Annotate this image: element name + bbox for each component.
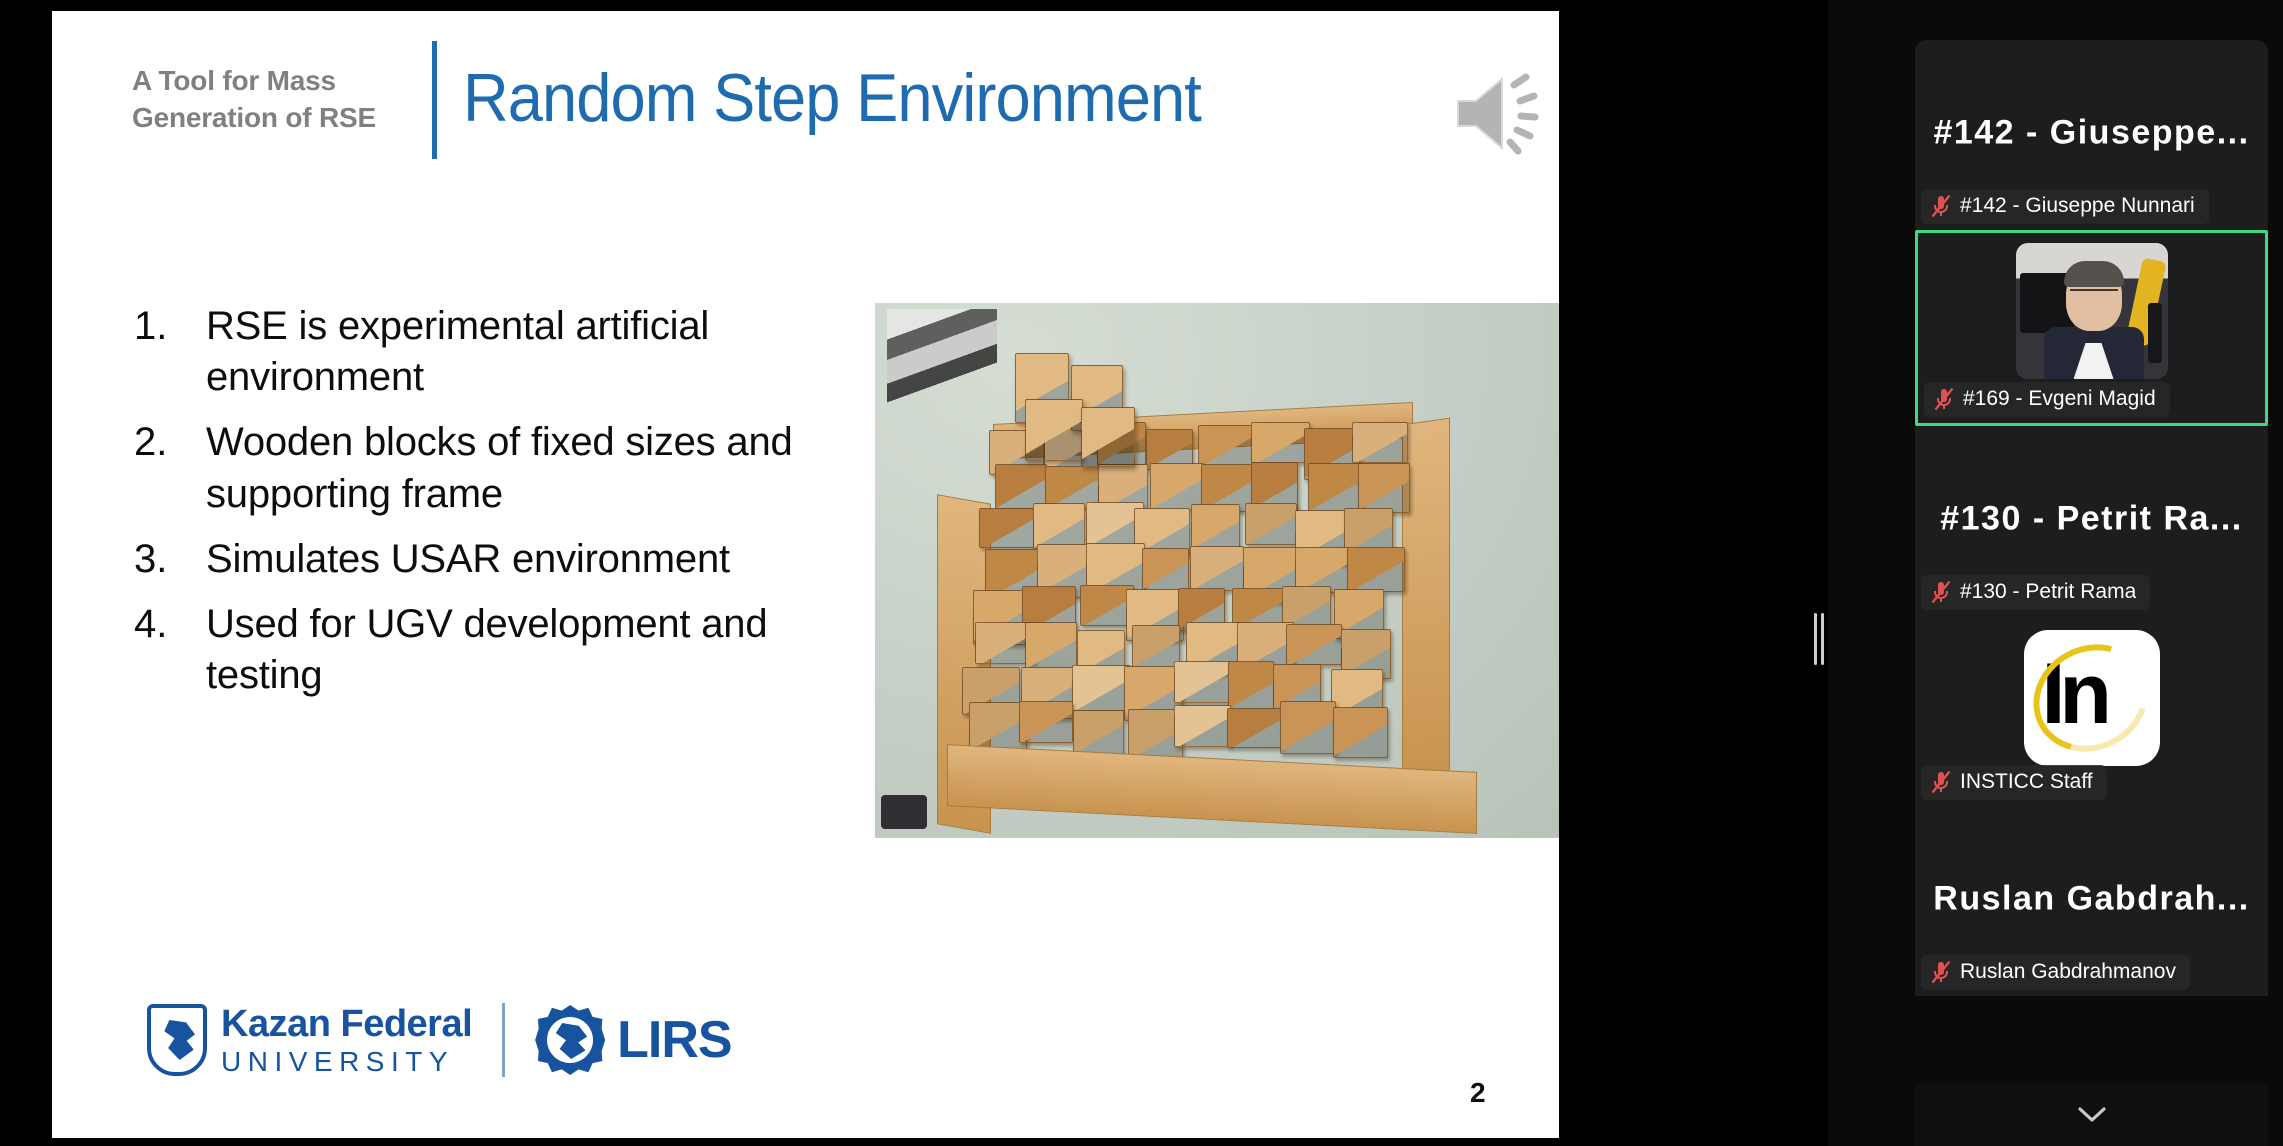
wooden-block [1286, 624, 1342, 665]
slide-title: Random Step Environment [463, 59, 1201, 137]
scroll-down-button[interactable] [1915, 1084, 2268, 1146]
footer-logos: Kazan Federal UNIVERSITY LIRS [147, 1003, 732, 1077]
logo-divider [502, 1003, 505, 1077]
list-item-number: 3. [124, 534, 206, 585]
participant-name-chip: #142 - Giuseppe Nunnari [1921, 189, 2209, 224]
list-item-text: RSE is experimental artificial environme… [206, 301, 824, 403]
wooden-block [1132, 625, 1180, 668]
wooden-block [979, 508, 1034, 548]
list-item-number: 1. [124, 301, 206, 352]
slide-header: A Tool for Mass Generation of RSE Random… [52, 11, 1559, 189]
wooden-block [1081, 407, 1135, 467]
list-item: 3. Simulates USAR environment [124, 534, 824, 585]
mic-off-icon [1934, 387, 1954, 411]
wooden-block [1073, 710, 1123, 755]
slide-kicker: A Tool for Mass Generation of RSE [132, 63, 422, 137]
mic-off-icon [1931, 960, 1951, 984]
wooden-block [1025, 399, 1083, 461]
participant-tile[interactable]: In INSTICC Staff [1915, 616, 2268, 806]
participant-video [2016, 243, 2168, 379]
wooden-block [1280, 701, 1336, 754]
wooden-block [1245, 503, 1297, 545]
zoom-meeting-window: A Tool for Mass Generation of RSE Random… [0, 0, 2283, 1146]
participant-tile[interactable]: #130 - Petrit Ra... #130 - Petrit Rama [1915, 426, 2268, 616]
wooden-block [1150, 463, 1204, 509]
header-divider [432, 41, 437, 159]
list-item: 1. RSE is experimental artificial enviro… [124, 301, 824, 403]
list-item-text: Simulates USAR environment [206, 534, 730, 585]
speaker-sound-icon[interactable] [1450, 71, 1555, 156]
wooden-block [1358, 463, 1410, 513]
wooden-block [1227, 708, 1282, 748]
participant-display-name-large: #130 - Petrit Ra... [1915, 500, 2268, 539]
list-item: 2. Wooden blocks of fixed sizes and supp… [124, 417, 824, 519]
participant-name-label: INSTICC Staff [1960, 770, 2093, 794]
list-item: 4. Used for UGV development and testing [124, 599, 824, 701]
participant-name-chip: #169 - Evgeni Magid [1924, 382, 2170, 417]
slide-page-number: 2 [1470, 1077, 1486, 1109]
mic-off-icon [1931, 194, 1951, 218]
participant-tile[interactable]: #142 - Giuseppe... #142 - Giuseppe Nunna… [1915, 40, 2268, 230]
list-item-text: Wooden blocks of fixed sizes and support… [206, 417, 824, 519]
wooden-block [995, 464, 1046, 509]
wooden-block [1191, 504, 1240, 551]
wooden-block [1352, 422, 1408, 463]
wooden-block [1333, 707, 1388, 758]
wooden-block [1251, 422, 1309, 463]
participant-name-label: #169 - Evgeni Magid [1963, 387, 2156, 411]
mic-off-icon [1931, 580, 1951, 604]
wooden-block [1072, 665, 1130, 710]
participant-tile[interactable]: #169 - Evgeni Magid [1915, 230, 2268, 426]
lirs-bird-icon [555, 1023, 587, 1059]
wooden-block [1019, 701, 1072, 743]
wooden-block [1033, 503, 1085, 549]
participant-display-name-large: #142 - Giuseppe... [1915, 114, 2268, 153]
handle-bar [1814, 613, 1817, 665]
wooden-block [1228, 661, 1274, 715]
participant-name-label: #130 - Petrit Rama [1960, 580, 2136, 604]
slide-bullet-list: 1. RSE is experimental artificial enviro… [124, 301, 824, 715]
wooden-block [1308, 463, 1362, 513]
participant-display-name-large: Ruslan Gabdrah... [1915, 880, 2268, 919]
wooden-block [1347, 547, 1405, 593]
wooden-block [1190, 546, 1244, 591]
wooden-block [1174, 705, 1230, 746]
mic-off-icon [1931, 770, 1951, 794]
rse-photo [875, 303, 1559, 838]
participant-name-label: #142 - Giuseppe Nunnari [1960, 194, 2195, 218]
participant-avatar: In [2024, 630, 2160, 766]
participant-tile[interactable]: Ruslan Gabdrah... Ruslan Gabdrahmanov [1915, 806, 2268, 996]
wooden-block [969, 702, 1026, 751]
list-item-number: 2. [124, 417, 206, 468]
participant-filmstrip-panel: #142 - Giuseppe... #142 - Giuseppe Nunna… [1828, 0, 2283, 1146]
presentation-slide: A Tool for Mass Generation of RSE Random… [52, 11, 1559, 1138]
wooden-block [1025, 622, 1077, 673]
participant-name-chip: #130 - Petrit Rama [1921, 575, 2150, 610]
wooden-block [1174, 661, 1230, 702]
kfu-wordmark: Kazan Federal UNIVERSITY [221, 1005, 472, 1076]
handle-bar [1821, 613, 1824, 665]
kfu-line-1: Kazan Federal [221, 1005, 472, 1043]
participant-name-label: Ruslan Gabdrahmanov [1960, 960, 2176, 984]
lirs-gear-icon [535, 1005, 605, 1075]
list-item-number: 4. [124, 599, 206, 650]
kazan-federal-university-crest-icon [147, 1004, 207, 1076]
screen-share-stage: A Tool for Mass Generation of RSE Random… [0, 0, 1820, 1146]
participant-name-chip: INSTICC Staff [1921, 765, 2107, 800]
list-item-text: Used for UGV development and testing [206, 599, 824, 701]
chevron-down-icon [2077, 1106, 2107, 1124]
panel-resize-handle[interactable] [1810, 612, 1828, 666]
wooden-block [1142, 548, 1189, 590]
photo-caster [881, 795, 927, 829]
wooden-block [1198, 425, 1254, 466]
participant-name-chip: Ruslan Gabdrahmanov [1921, 955, 2190, 990]
participant-tiles: #142 - Giuseppe... #142 - Giuseppe Nunna… [1915, 40, 2268, 996]
lirs-wordmark: LIRS [617, 1010, 731, 1070]
kfu-line-2: UNIVERSITY [221, 1048, 472, 1076]
